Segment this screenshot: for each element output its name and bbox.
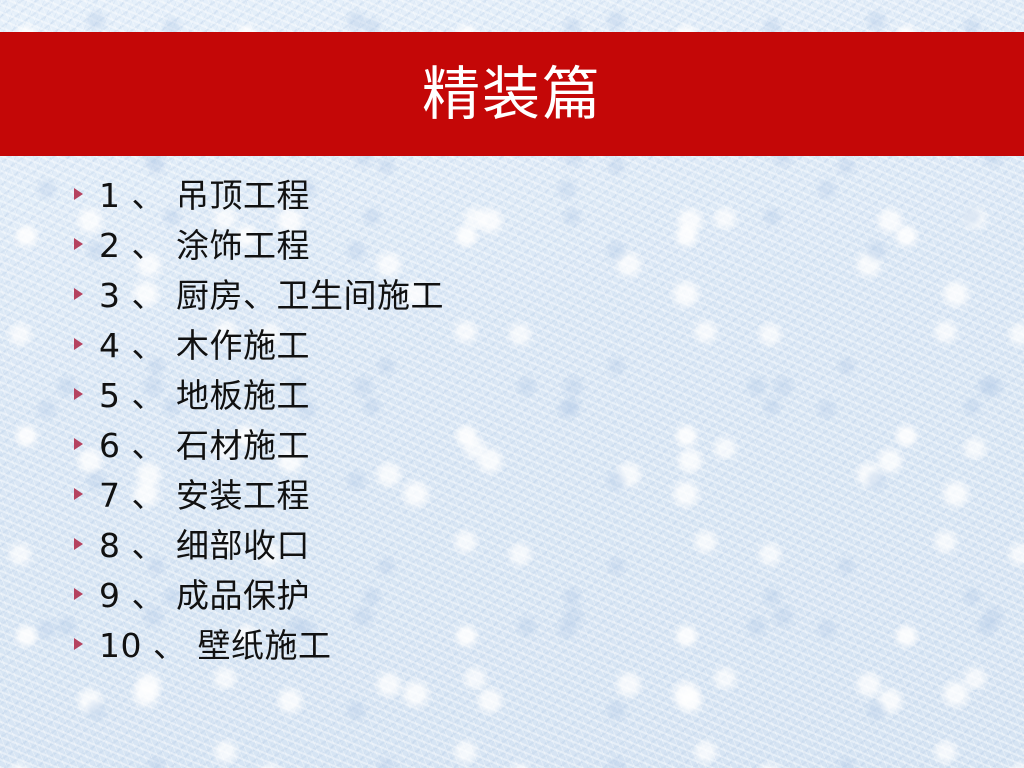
list-item[interactable]: 3 、 厨房、卫生间施工	[74, 276, 954, 326]
list-item[interactable]: 8 、 细部收口	[74, 526, 954, 576]
triangle-right-icon	[74, 638, 83, 650]
slide-title: 精装篇	[422, 65, 602, 123]
list-item[interactable]: 10 、 壁纸施工	[74, 626, 954, 676]
triangle-right-icon	[74, 538, 83, 550]
list-item-label: 7 、 安装工程	[99, 476, 310, 516]
list-item-label: 9 、 成品保护	[99, 576, 310, 616]
triangle-right-icon	[74, 188, 83, 200]
triangle-right-icon	[74, 438, 83, 450]
triangle-right-icon	[74, 338, 83, 350]
triangle-right-icon	[74, 588, 83, 600]
list-item-label: 1 、 吊顶工程	[99, 176, 310, 216]
list-item[interactable]: 6 、 石材施工	[74, 426, 954, 476]
list-item-label: 8 、 细部收口	[99, 526, 310, 566]
triangle-right-icon	[74, 288, 83, 300]
list-item[interactable]: 4 、 木作施工	[74, 326, 954, 376]
list-item[interactable]: 7 、 安装工程	[74, 476, 954, 526]
list-item[interactable]: 9 、 成品保护	[74, 576, 954, 626]
list-item[interactable]: 5 、 地板施工	[74, 376, 954, 426]
list-item-label: 3 、 厨房、卫生间施工	[99, 276, 444, 316]
list-item-label: 10 、 壁纸施工	[99, 626, 331, 666]
presentation-slide: 精装篇 1 、 吊顶工程 2 、 涂饰工程 3 、 厨房、卫生间施工 4 、 木…	[0, 0, 1024, 768]
triangle-right-icon	[74, 488, 83, 500]
triangle-right-icon	[74, 388, 83, 400]
list-item-label: 4 、 木作施工	[99, 326, 310, 366]
list-item[interactable]: 1 、 吊顶工程	[74, 176, 954, 226]
agenda-bullet-list: 1 、 吊顶工程 2 、 涂饰工程 3 、 厨房、卫生间施工 4 、 木作施工 …	[74, 176, 954, 676]
list-item-label: 6 、 石材施工	[99, 426, 310, 466]
list-item-label: 5 、 地板施工	[99, 376, 310, 416]
list-item-label: 2 、 涂饰工程	[99, 226, 310, 266]
list-item[interactable]: 2 、 涂饰工程	[74, 226, 954, 276]
triangle-right-icon	[74, 238, 83, 250]
title-banner: 精装篇	[0, 32, 1024, 156]
